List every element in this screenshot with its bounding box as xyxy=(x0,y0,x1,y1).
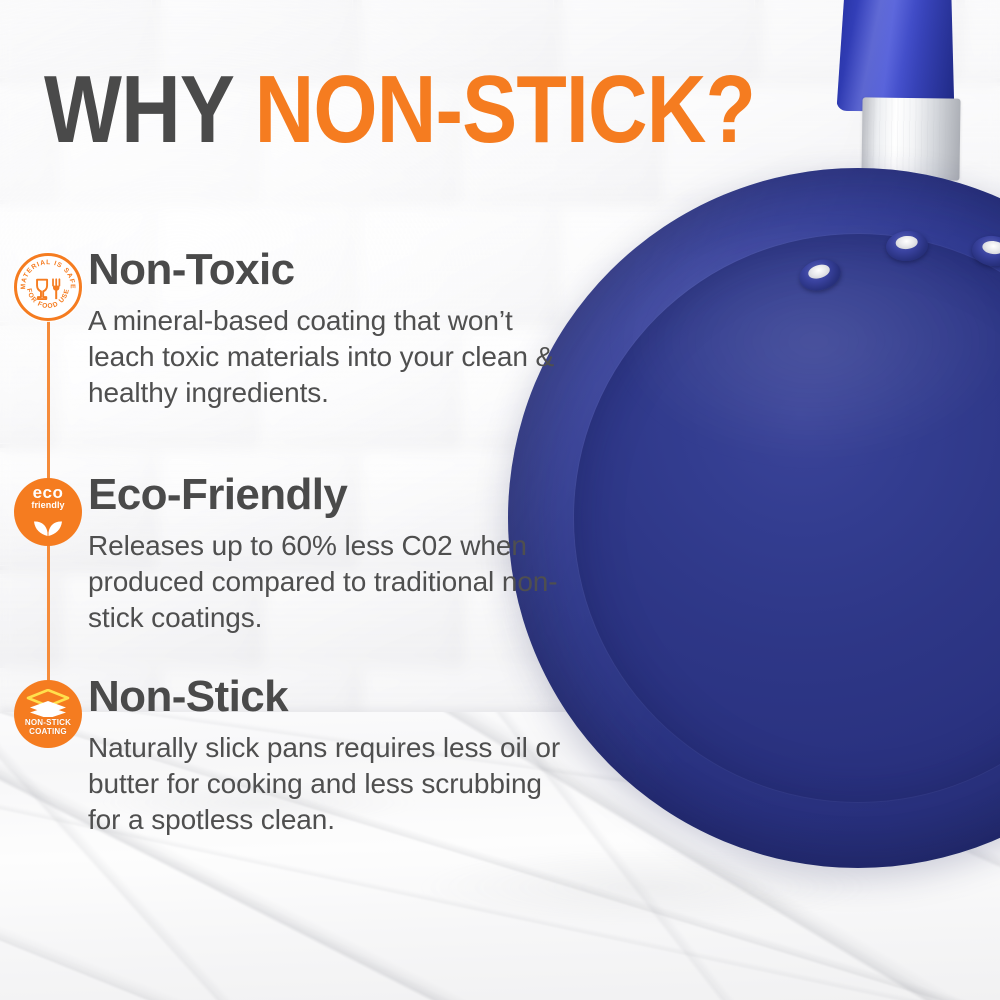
feature-title: Eco-Friendly xyxy=(88,470,347,520)
non-stick-badge-label: NON-STICK COATING xyxy=(25,719,71,736)
feature-body: Releases up to 60% less C02 when produce… xyxy=(88,528,558,636)
infographic-canvas: WHY NON-STICK? MATERIAL IS SAFE FOR FOOD… xyxy=(0,0,1000,1000)
feature-title: Non-Stick xyxy=(88,672,288,722)
feature-body: A mineral-based coating that won’t leach… xyxy=(88,303,558,411)
leaf-icon xyxy=(28,511,68,537)
svg-text:FOR FOOD USE: FOR FOOD USE xyxy=(25,288,71,310)
non-stick-badge-line2: COATING xyxy=(29,727,67,736)
feature-body: Naturally slick pans requires less oil o… xyxy=(88,730,568,838)
coating-layers-icon xyxy=(26,689,70,717)
eco-friendly-badge-icon: eco friendly xyxy=(14,478,82,546)
food-safe-badge-icon: MATERIAL IS SAFE FOR FOOD USE xyxy=(14,253,82,321)
eco-label-secondary: friendly xyxy=(31,500,64,510)
feature-list: MATERIAL IS SAFE FOR FOOD USE Non-Toxic … xyxy=(0,0,560,1000)
eco-label-primary: eco xyxy=(33,486,64,500)
non-stick-coating-badge-icon: NON-STICK COATING xyxy=(14,680,82,748)
feature-title: Non-Toxic xyxy=(88,245,294,295)
